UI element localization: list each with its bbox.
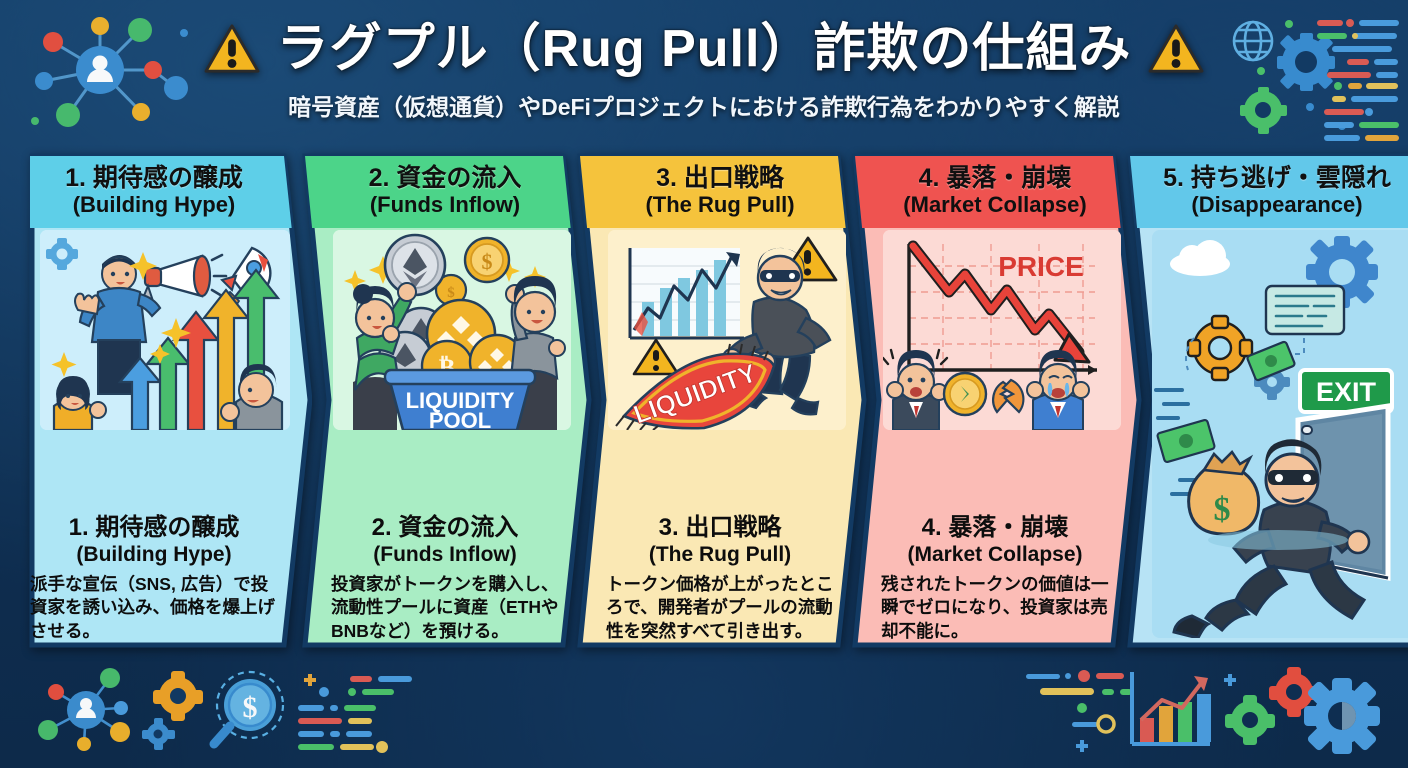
step-3-body: トークン価格が上がったところで、開発者がプールの流動性を突然すべて引き出す。 <box>606 573 834 643</box>
liquidity-pool-container: LIQUIDITY POOL <box>385 370 535 430</box>
falling-coin-icon <box>944 373 986 415</box>
step-1-caption: 1. 期待感の醸成 (Building Hype) 派手な宣伝（SNS, 広告）… <box>22 515 286 643</box>
step-3-header: 3. 出口戦略 (The Rug Pull) <box>598 156 842 226</box>
step-5-title-en: (Disappearance) <box>1191 192 1362 217</box>
step-4-body: 残されたトークンの価値は一瞬でゼロになり、投資家は売却不能に。 <box>881 573 1109 643</box>
bar-chart-icon <box>1132 672 1211 744</box>
document-card <box>1266 286 1344 334</box>
step-2-illustration: $ $ <box>333 230 571 430</box>
header: ラグプル（Rug Pull）詐欺の仕組み 暗号資産（仮想通貨）やDeFiプロジェ… <box>0 0 1408 145</box>
step-5-illustration: EXIT <box>1152 230 1408 638</box>
step-4-caption-jp: 4. 暴落・崩壊 <box>922 515 1069 541</box>
step-3-caption-jp: 3. 出口戦略 <box>659 515 782 541</box>
step-3-caption-en: (The Rug Pull) <box>649 543 791 567</box>
step-2-body: 投資家がトークンを購入し、流動性プールに資産（ETHやBNBなど）を預ける。 <box>331 573 559 643</box>
step-3-title-jp: 3. 出口戦略 <box>656 165 784 191</box>
step-1-caption-jp: 1. 期待感の醸成 <box>69 515 240 541</box>
svg-text:$: $ <box>243 691 258 724</box>
page-subtitle: 暗号資産（仮想通貨）やDeFiプロジェクトにおける詐欺行為をわかりやすく解説 <box>288 88 1120 122</box>
infographic-stage: ラグプル（Rug Pull）詐欺の仕組み 暗号資産（仮想通貨）やDeFiプロジェ… <box>0 0 1408 768</box>
step-5-title-jp: 5. 持ち逃げ・雲隠れ <box>1163 165 1391 191</box>
step-2-header: 2. 資金の流入 (Funds Inflow) <box>323 156 567 226</box>
step-1-title-jp: 1. 期待感の醸成 <box>65 165 243 191</box>
step-4-illustration: PRICE <box>883 230 1121 430</box>
step-4-caption: 4. 暴落・崩壊 (Market Collapse) 残されたトークンの価値は一… <box>873 515 1117 643</box>
network-gear-magnifier-dollar-data-icon: $ <box>18 660 418 766</box>
step-3-caption: 3. 出口戦略 (The Rug Pull) トークン価格が上がったところで、開… <box>598 515 842 643</box>
step-card-5[interactable]: 5. 持ち逃げ・雲隠れ (Disappearance) <box>1122 148 1408 653</box>
step-card-1[interactable]: 1. 期待感の醸成 (Building Hype) <box>22 148 312 653</box>
step-4-title-jp: 4. 暴落・崩壊 <box>919 165 1072 191</box>
step-4-title-en: (Market Collapse) <box>903 192 1086 217</box>
svg-text:$: $ <box>482 249 493 274</box>
step-2-title-en: (Funds Inflow) <box>370 192 520 217</box>
svg-text:$: $ <box>447 285 455 301</box>
step-3-illustration: LIQUIDITY <box>608 230 846 430</box>
price-label: PRICE <box>998 251 1084 282</box>
step-4-caption-en: (Market Collapse) <box>907 543 1082 567</box>
step-2-caption: 2. 資金の流入 (Funds Inflow) 投資家がトークンを購入し、流動性… <box>323 515 567 643</box>
page-title: ラグプル（Rug Pull）詐欺の仕組み <box>277 23 1132 75</box>
exit-label: EXIT <box>1316 377 1377 407</box>
step-1-title-en: (Building Hype) <box>73 192 236 217</box>
svg-text:$: $ <box>1214 491 1231 528</box>
step-1-header: 1. 期待感の醸成 (Building Hype) <box>22 156 286 226</box>
step-card-3[interactable]: 3. 出口戦略 (The Rug Pull) <box>572 148 868 653</box>
step-2-caption-jp: 2. 資金の流入 <box>372 515 519 541</box>
warning-triangle-icon <box>203 23 261 75</box>
step-1-illustration <box>40 230 290 430</box>
step-4-header: 4. 暴落・崩壊 (Market Collapse) <box>873 156 1117 226</box>
magnifier-dollar-icon: $ <box>214 672 283 744</box>
step-1-caption-en: (Building Hype) <box>76 543 231 567</box>
warning-triangle-icon <box>1147 23 1205 75</box>
step-card-4[interactable]: 4. 暴落・崩壊 (Market Collapse) <box>847 148 1143 653</box>
step-2-caption-en: (Funds Inflow) <box>373 543 516 567</box>
rising-chart-icon <box>630 248 744 338</box>
pool-label-line2: POOL <box>429 408 491 430</box>
step-1-body: 派手な宣伝（SNS, 広告）で投資家を誘い込み、価格を爆上げさせる。 <box>30 573 278 643</box>
step-2-title-jp: 2. 資金の流入 <box>369 165 522 191</box>
steps-row: 1. 期待感の醸成 (Building Hype) <box>0 148 1408 653</box>
data-lines-bar-chart-gears-icon <box>1002 658 1398 764</box>
dollar-coin-icon: $ <box>465 238 509 282</box>
title-row: ラグプル（Rug Pull）詐欺の仕組み <box>203 23 1206 75</box>
step-3-title-en: (The Rug Pull) <box>645 192 794 217</box>
step-card-2[interactable]: 2. 資金の流入 (Funds Inflow) <box>297 148 593 653</box>
step-5-header: 5. 持ち逃げ・雲隠れ (Disappearance) <box>1138 156 1408 226</box>
